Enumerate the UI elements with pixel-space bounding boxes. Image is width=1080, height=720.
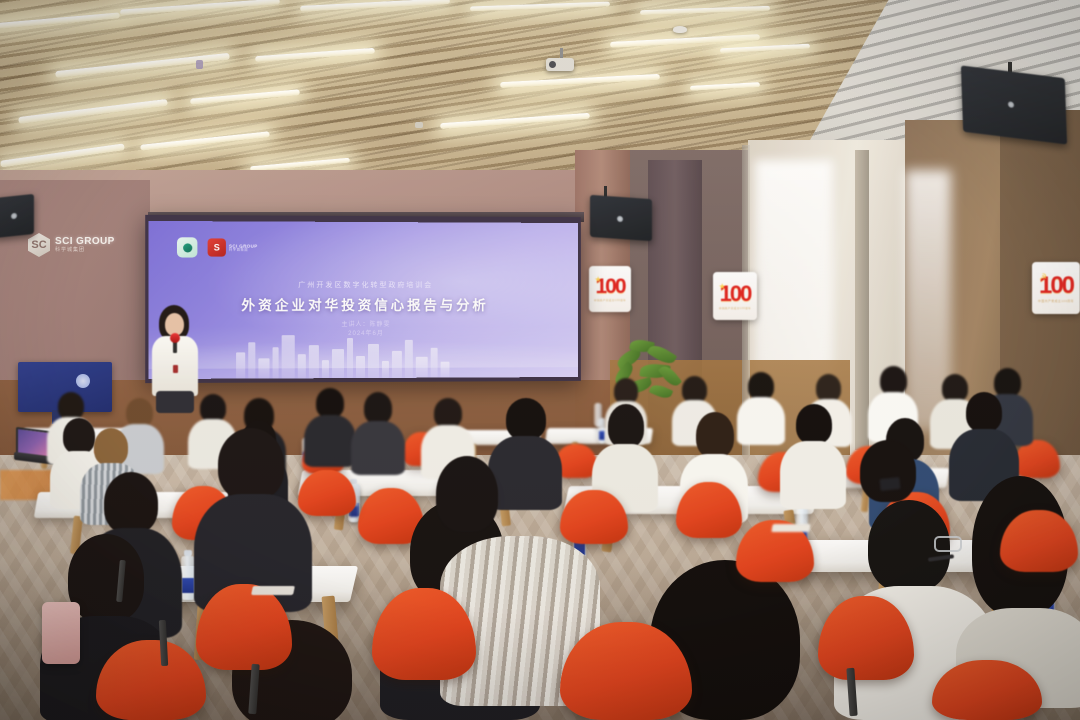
notebook xyxy=(771,524,810,532)
attendee-head xyxy=(364,392,392,424)
projection-slide: S SCI GROUP 科学城集团 广州开发区数字化转型政府培训会 外资企业对华… xyxy=(148,221,578,379)
attendee-head xyxy=(58,392,84,420)
attendee-head xyxy=(860,440,916,502)
attendee-head xyxy=(696,412,734,458)
slide-logo-secondary: 科学城集团 xyxy=(229,248,258,252)
attendee-torso xyxy=(351,421,405,475)
notebook xyxy=(251,586,295,595)
wall-speaker-center xyxy=(590,195,652,241)
cpc-hammer-sickle-icon: ☭ xyxy=(1039,272,1047,283)
sci-mark-icon: SC xyxy=(28,233,50,257)
water-bottle xyxy=(181,556,195,600)
attendee-head xyxy=(126,398,153,427)
ceiling-sensor xyxy=(415,122,423,128)
partner-emblem-icon xyxy=(177,237,197,257)
attendee-head xyxy=(434,398,462,428)
emblem-caption: 中国共产党成立100周年 xyxy=(1038,298,1074,303)
cpc-100-emblem-right: ☭ 100 中国共产党成立100周年 xyxy=(1032,262,1080,314)
ceiling-projector xyxy=(546,58,574,71)
bottle-cap xyxy=(184,550,192,556)
attendee-head xyxy=(608,404,644,448)
attendee-head xyxy=(816,374,841,402)
eyeglasses-icon xyxy=(934,536,962,552)
door-frame xyxy=(855,150,869,450)
sci-group-logo-secondary: 科学城集团 xyxy=(55,248,115,253)
attendee-head xyxy=(994,368,1021,397)
attendee-torso xyxy=(304,415,356,467)
sci-group-slide-mark-icon: S xyxy=(208,238,226,256)
attendee-head xyxy=(436,456,498,532)
conference-room-photo: SC SCI GROUP 科学城集团 ★ 100 中国共产党成立100周年 ★ … xyxy=(0,0,1080,720)
attendee-head xyxy=(748,372,774,400)
speaker-driver-icon xyxy=(11,213,17,220)
handheld-microphone xyxy=(170,333,180,343)
cpc-star-icon: ★ xyxy=(719,282,726,291)
emblem-caption: 中国共产党成立100周年 xyxy=(594,298,626,301)
attendee-head xyxy=(94,428,128,466)
speaker-driver-icon xyxy=(617,216,623,222)
slide-logo-row: S SCI GROUP 科学城集团 xyxy=(177,237,258,257)
ceiling-sensor xyxy=(196,60,203,69)
emblem-caption: 中国共产党成立100周年 xyxy=(719,306,751,309)
attendee-head xyxy=(218,428,284,500)
projector-lens-icon xyxy=(549,61,556,68)
slide-title: 外资企业对华投资信心报告与分析 xyxy=(148,294,578,314)
attendee-torso xyxy=(488,436,562,510)
attendee-torso xyxy=(780,441,846,509)
wall-speaker-right xyxy=(961,65,1067,144)
sci-group-wall-logo: SC SCI GROUP 科学城集团 xyxy=(28,232,128,258)
handbag xyxy=(42,602,80,664)
attendee-head xyxy=(880,366,907,395)
phone xyxy=(879,477,900,491)
bottle-label xyxy=(182,578,194,593)
slide-subtitle: 广州开发区数字化转型政府培训会 xyxy=(148,280,578,290)
attendee-head xyxy=(200,394,226,422)
attendee-head xyxy=(506,398,546,440)
monitor-logo-icon xyxy=(76,374,90,388)
slide-footer-date: 2024年6月 xyxy=(148,330,578,341)
presenter-skirt xyxy=(156,391,194,413)
attendee-head xyxy=(682,376,707,403)
slide-logo-text: SCI GROUP 科学城集团 xyxy=(229,243,258,252)
attendee-head xyxy=(942,374,968,402)
attendee-head xyxy=(316,388,344,418)
attendee-head xyxy=(966,392,1002,432)
cpc-star-icon: ★ xyxy=(594,275,601,284)
attendee-head xyxy=(63,418,95,454)
speaker-driver-icon xyxy=(1008,101,1014,108)
attendee-torso xyxy=(737,397,785,445)
attendee-head xyxy=(104,472,158,534)
projector-mount xyxy=(560,48,563,58)
ceiling-smoke-detector xyxy=(673,26,687,33)
attendee-head xyxy=(796,404,832,444)
cpc-100-emblem-mid: ★ 100 中国共产党成立100周年 xyxy=(713,272,757,320)
water-bottle xyxy=(594,403,602,427)
presenter-badge xyxy=(173,365,178,373)
wall-speaker-left xyxy=(0,194,34,238)
cpc-100-emblem-left: ★ 100 中国共产党成立100周年 xyxy=(589,266,631,312)
